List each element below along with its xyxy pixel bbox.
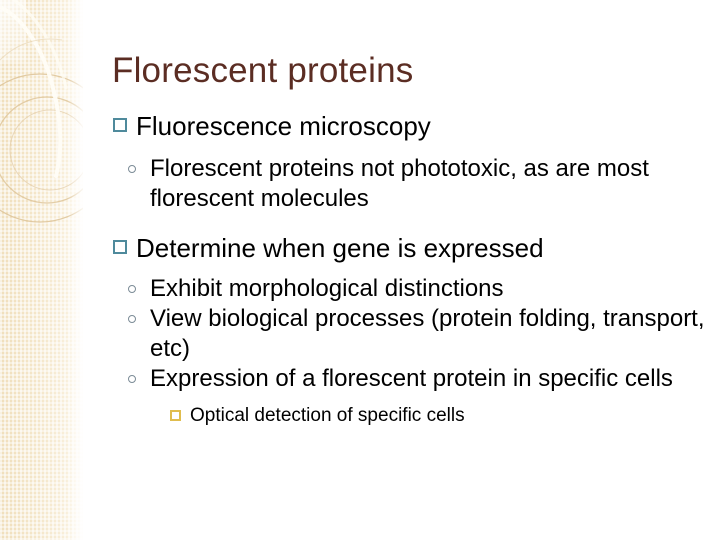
bullet-level3-optical-detection: Optical detection of specific cells bbox=[168, 403, 708, 429]
circle-bullet-icon bbox=[128, 315, 136, 323]
spacer bbox=[112, 394, 708, 403]
spacer bbox=[112, 265, 708, 274]
bullet-level1-determine-gene-expressed: Determine when gene is expressed bbox=[112, 232, 708, 265]
bullet-level2-phototoxic: Florescent proteins not phototoxic, as a… bbox=[124, 154, 708, 214]
bullet-level2-morphological-distinctions: Exhibit morphological distinctions bbox=[124, 274, 708, 304]
bullet-text: Exhibit morphological distinctions bbox=[150, 275, 504, 302]
bullet-level2-biological-processes: View biological processes (protein foldi… bbox=[124, 304, 708, 364]
sidebar-edge-fade bbox=[67, 0, 83, 540]
slide-body: Fluorescence microscopy Florescent prote… bbox=[112, 110, 708, 429]
spacer bbox=[112, 214, 708, 232]
decorative-sidebar-band bbox=[0, 0, 83, 540]
square-bullet-icon bbox=[113, 118, 127, 132]
square-bullet-icon bbox=[170, 410, 181, 421]
spacer bbox=[112, 143, 708, 154]
bullet-text: Fluorescence microscopy bbox=[136, 111, 431, 141]
bullet-text: Optical detection of specific cells bbox=[190, 405, 465, 426]
bullet-text: View biological processes (protein foldi… bbox=[150, 305, 705, 362]
bullet-text: Determine when gene is expressed bbox=[136, 233, 544, 263]
circle-bullet-icon bbox=[128, 165, 136, 173]
page-title: Florescent proteins bbox=[112, 50, 413, 92]
bullet-level2-expression-specific-cells: Expression of a florescent protein in sp… bbox=[124, 364, 708, 394]
circle-bullet-icon bbox=[128, 285, 136, 293]
bullet-level1-fluorescence-microscopy: Fluorescence microscopy bbox=[112, 110, 708, 143]
bullet-text: Expression of a florescent protein in sp… bbox=[150, 365, 673, 392]
bullet-text: Florescent proteins not phototoxic, as a… bbox=[150, 155, 649, 212]
circle-bullet-icon bbox=[128, 375, 136, 383]
slide: Florescent proteins Fluorescence microsc… bbox=[0, 0, 720, 540]
square-bullet-icon bbox=[113, 240, 127, 254]
